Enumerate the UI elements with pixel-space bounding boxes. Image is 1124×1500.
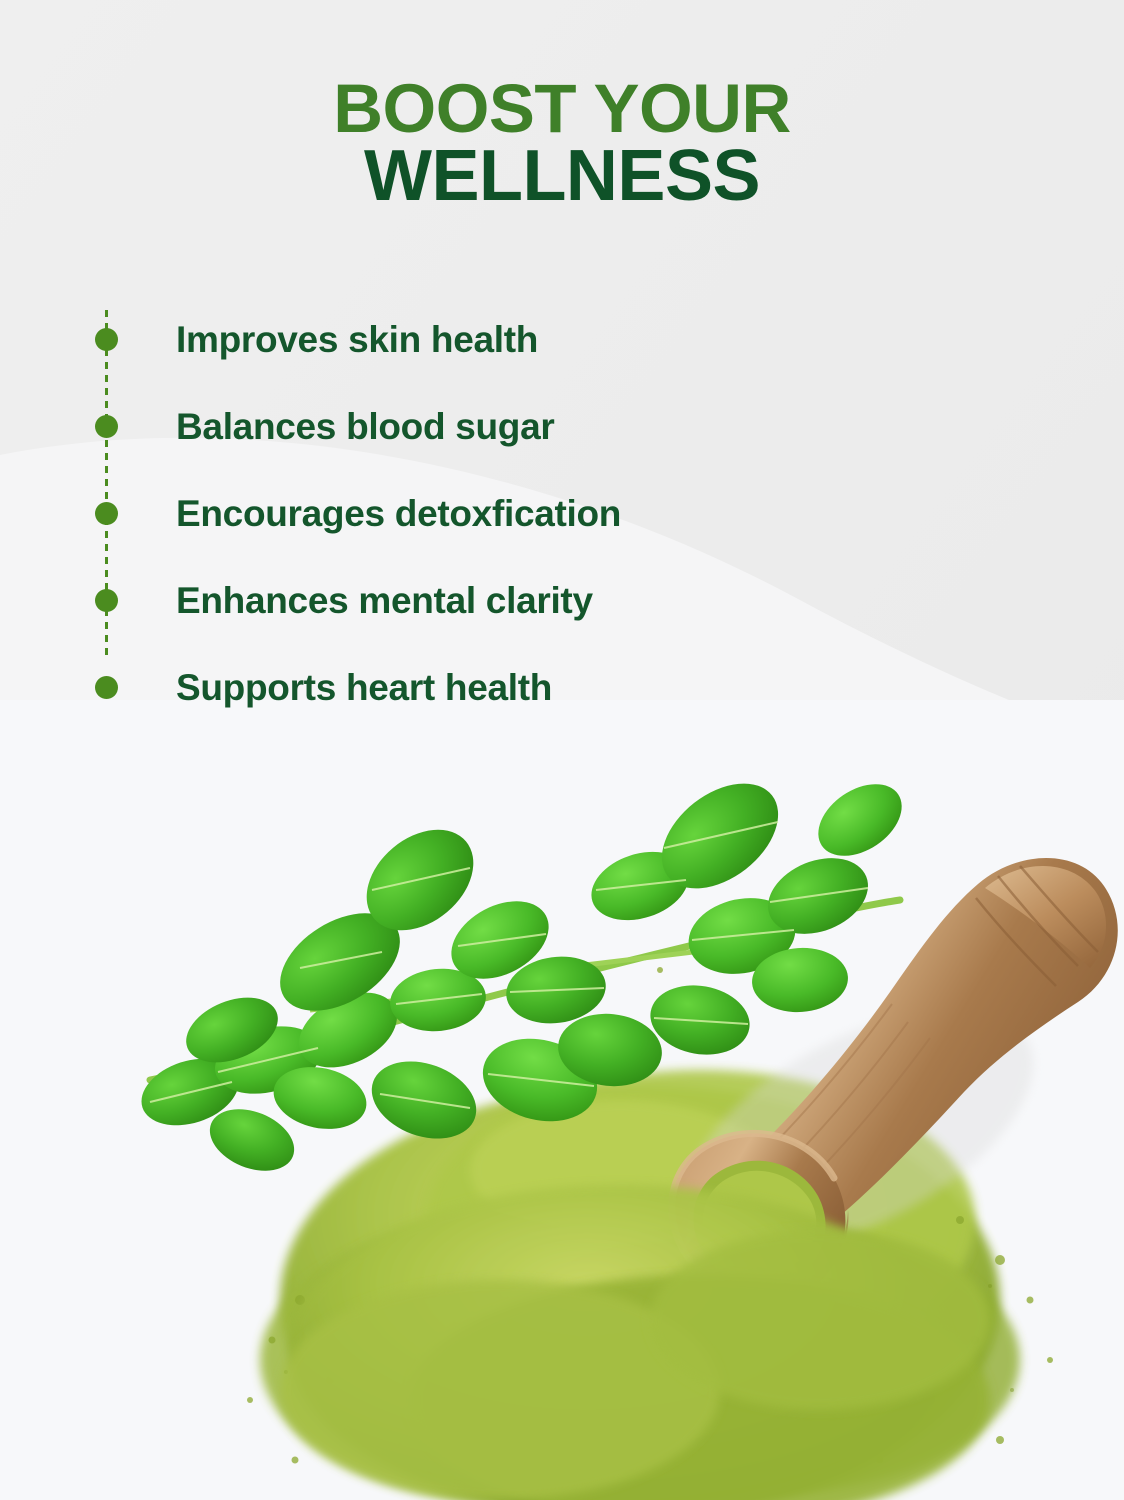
bullet-dot-icon [95,676,118,699]
moringa-product-image [0,700,1124,1500]
list-item: Balances blood sugar [0,383,1124,470]
bullet-dot-icon [95,415,118,438]
benefit-label: Supports heart health [176,667,552,709]
benefit-label: Enhances mental clarity [176,580,593,622]
bullet-dot-icon [95,502,118,525]
bullet-dot-icon [95,328,118,351]
list-item: Improves skin health [0,296,1124,383]
benefit-label: Balances blood sugar [176,406,555,448]
list-item: Supports heart health [0,644,1124,731]
promo-poster: BOOST YOUR WELLNESS Improves skin health… [0,0,1124,1500]
bullet-dot-icon [95,589,118,612]
benefit-label: Improves skin health [176,319,538,361]
list-item: Encourages detoxfication [0,470,1124,557]
list-item: Enhances mental clarity [0,557,1124,644]
page-title-line-1: BOOST YOUR [0,76,1124,142]
benefit-label: Encourages detoxfication [176,493,621,535]
benefits-list: Improves skin health Balances blood suga… [0,296,1124,731]
poster-header: BOOST YOUR WELLNESS [0,0,1124,211]
page-title-line-2: WELLNESS [0,142,1124,211]
